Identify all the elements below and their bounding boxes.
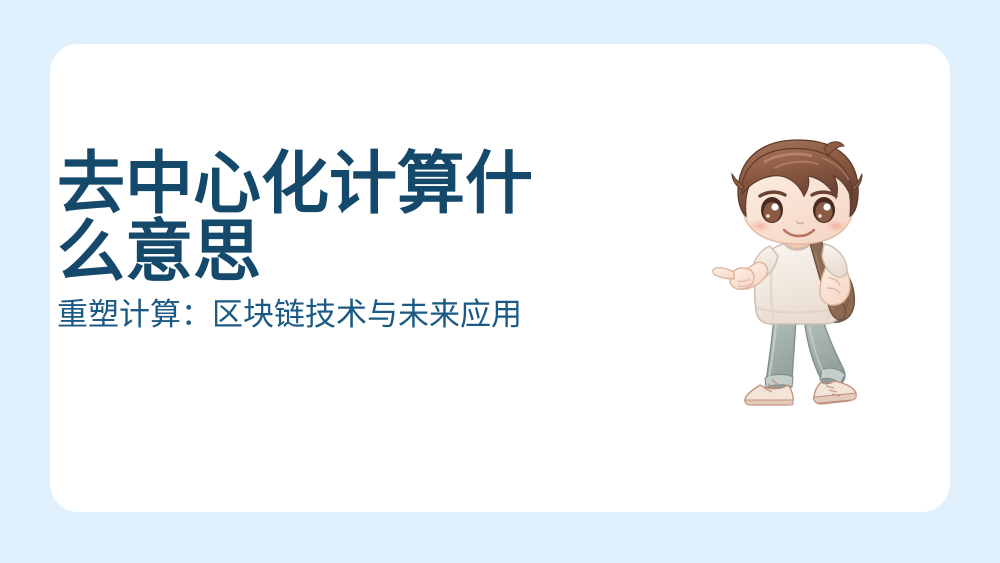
shoes — [745, 380, 856, 405]
head — [732, 140, 862, 244]
right-arm — [820, 244, 850, 305]
chibi-boy-pointing-illustration — [712, 138, 892, 406]
page-subtitle: 重塑计算：区块链技术与未来应用 — [57, 296, 577, 333]
right-eye — [813, 197, 835, 223]
slide-root: 去中心化计算什么意思 重塑计算：区块链技术与未来应用 — [0, 0, 1000, 563]
left-eye — [761, 197, 783, 223]
page-title: 去中心化计算什么意思 — [57, 150, 577, 286]
text-block: 去中心化计算什么意思 重塑计算：区块链技术与未来应用 — [57, 150, 577, 333]
